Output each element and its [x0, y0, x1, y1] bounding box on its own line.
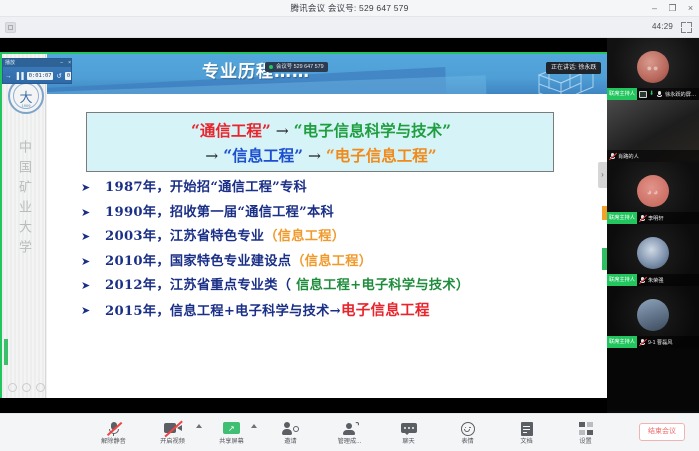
toolbar-document-button[interactable]: 文档 — [506, 416, 548, 450]
avatar — [637, 237, 669, 269]
toolbar-button-label: 聊天 — [402, 438, 414, 446]
participant-name: 朱荣强 — [648, 277, 699, 284]
text-run: 电子信息工程 — [341, 302, 430, 319]
minimize-button[interactable]: – — [650, 0, 659, 16]
participant-role-badge: 联席主持人 — [607, 88, 637, 100]
participant-status-icons — [637, 338, 648, 346]
filmstrip-empty-area — [607, 348, 699, 411]
fullscreen-icon[interactable] — [681, 22, 692, 33]
share-border-left — [0, 52, 2, 398]
download-icon: ⬇ — [649, 90, 654, 98]
settings-icon — [579, 420, 593, 437]
participant-name: 9-1 曹磊风 — [648, 339, 699, 346]
slide-bullet: 2012年，江苏省重点专业类（ 信息工程+电子科学与技术） — [77, 278, 597, 294]
toolbar-button-label: 开启视频 — [160, 438, 185, 446]
meeting-stage: 中国矿业大学 专业历程…… — [0, 38, 699, 413]
slide-bullet: 2010年，国家特色专业建设点（信息工程） — [77, 254, 597, 270]
meeting-sub-bar: 44:29 — [0, 17, 699, 38]
slide-bullet-list: 1987年，开始招“通信工程”专科1990年，招收第一届“通信工程”本科2003… — [77, 180, 597, 328]
player-loop-icon[interactable]: ↺ — [56, 72, 61, 80]
mic-icon — [656, 90, 663, 98]
participant-tile[interactable]: ●●联席主持人⬇徐永跃的屏幕共享 — [607, 38, 699, 100]
player-next-icon[interactable]: → — [5, 73, 12, 80]
meeting-id-badge: 会议号 529 647 579 — [265, 62, 328, 72]
emoji-icon — [461, 420, 475, 437]
window-controls: – ❐ × — [650, 0, 695, 16]
toolbar-button-label: 邀请 — [284, 438, 296, 446]
presentation-slide: 专业历程…… — [47, 52, 607, 398]
participant-filmstrip[interactable]: ●●联席主持人⬇徐永跃的屏幕共享肖路的人◕◕联席主持人李明轩联席主持人朱荣强联席… — [607, 38, 699, 413]
participant-tile[interactable]: 肖路的人 — [607, 100, 699, 162]
manage-members-icon — [342, 420, 358, 437]
screen-share-icon — [639, 91, 647, 98]
player-title-bar: 播放 – × — [3, 59, 72, 67]
toolbar-button-label: 解除静音 — [101, 438, 126, 446]
avatar: ●● — [637, 51, 669, 83]
video-options-caret-icon[interactable] — [251, 424, 257, 428]
participant-status-icons — [637, 276, 648, 284]
slide-highlight-box: “通信工程” → “电子信息科学与技术” → “信息工程” → “电子信息工程” — [86, 112, 554, 172]
end-meeting-button[interactable]: 结束会议 — [639, 423, 685, 441]
text-run: “电子信息工程” — [326, 146, 437, 165]
active-speaker-badge: 正在讲话: 徐永跃 — [546, 62, 601, 74]
mic-muted-icon — [609, 152, 616, 160]
text-run: 2010年，国家特色专业建设点 — [105, 254, 291, 269]
toolbar-button-label: 管理成... — [338, 438, 362, 446]
window-title: 腾讯会议 会议号: 529 647 579 — [0, 0, 699, 16]
participant-name: 李明轩 — [648, 215, 699, 222]
participant-status-icons — [607, 152, 618, 160]
avatar-face: ●● — [647, 63, 660, 73]
toolbar-camera-muted-button[interactable]: 开启视频 — [152, 416, 194, 450]
crest-year: 1909 — [10, 103, 42, 108]
participant-tile[interactable]: ◕◕联席主持人李明轩 — [607, 162, 699, 224]
share-edge-green — [602, 248, 607, 270]
share-border-top — [0, 52, 607, 54]
mic-muted-icon — [639, 214, 646, 222]
toolbar-manage-members-button[interactable]: 管理成... — [329, 416, 371, 450]
slide-header: 专业历程…… — [47, 52, 607, 94]
share-edge-orange — [602, 206, 607, 220]
toolbar-mic-muted-button[interactable]: 解除静音 — [93, 416, 135, 450]
strip-dots — [8, 383, 45, 392]
participant-name-bar: 联席主持人9-1 曹磊风 — [607, 336, 699, 348]
text-run: 2012年，江苏省重点专业类（ — [105, 278, 296, 293]
avatar: ◕◕ — [637, 175, 669, 207]
toolbar-share-screen-button[interactable]: ↗共享屏幕 — [211, 416, 253, 450]
meeting-timer: 44:29 — [652, 17, 673, 37]
mic-muted-icon — [107, 420, 121, 437]
slide-bullet: 1990年，招收第一届“通信工程”本科 — [77, 205, 597, 221]
share-screen-icon: ↗ — [223, 420, 240, 437]
participant-role-badge: 联席主持人 — [607, 274, 637, 286]
text-run: “通信工程” — [191, 121, 271, 140]
shared-screen-region[interactable]: 中国矿业大学 专业历程…… — [0, 52, 607, 398]
toolbar-button-label: 文档 — [520, 438, 532, 446]
toolbar-button-label: 共享屏幕 — [219, 438, 244, 446]
text-run: “电子信息科学与技术” — [294, 121, 451, 140]
slide-body: “通信工程” → “电子信息科学与技术” → “信息工程” → “电子信息工程”… — [47, 94, 607, 398]
participant-status-icons: ⬇ — [637, 90, 665, 98]
text-run: → — [303, 147, 326, 165]
player-title: 播放 — [5, 59, 15, 67]
invite-icon — [283, 420, 299, 437]
maximize-button[interactable]: ❐ — [668, 0, 677, 16]
player-minimize[interactable]: – — [60, 59, 63, 67]
meeting-info-icon[interactable] — [5, 22, 16, 33]
participant-status-icons — [637, 214, 648, 222]
avatar — [637, 299, 669, 331]
text-run: （信息工程） — [291, 254, 372, 269]
text-run: 1987年，开始招“通信工程”专科 — [105, 180, 307, 195]
slide-bullet: 2003年，江苏省特色专业（信息工程） — [77, 229, 597, 245]
player-close[interactable]: × — [68, 59, 71, 67]
toolbar-button-label: 设置 — [579, 438, 591, 446]
university-name: 中国矿业大学 — [14, 140, 33, 260]
highlight-line-1: “通信工程” → “电子信息科学与技术” — [87, 119, 555, 141]
close-button[interactable]: × — [686, 0, 695, 16]
participant-name-bar: 联席主持人朱荣强 — [607, 274, 699, 286]
participant-name: 徐永跃的屏幕共享 — [665, 91, 699, 98]
active-speaker-text: 正在讲话: 徐永跃 — [551, 62, 596, 74]
participant-role-badge: 联席主持人 — [607, 336, 637, 348]
toolbar-button-label: 表情 — [461, 438, 473, 446]
player-controls: → ▐▐ 0:01:07 ↺ 0:12:41 — [3, 68, 72, 84]
text-run: → — [271, 122, 294, 140]
text-run: 1990年，招收第一届“通信工程”本科 — [105, 205, 334, 220]
player-pause-icon[interactable]: ▐▐ — [15, 73, 24, 80]
toolbar-invite-button[interactable]: 邀请 — [270, 416, 312, 450]
text-run: 2003年，江苏省特色专业 — [105, 229, 264, 244]
meeting-id-text: 会议号 529 647 579 — [276, 62, 324, 72]
toolbar-chat-button[interactable]: 聊天 — [388, 416, 430, 450]
strip-accent — [4, 339, 8, 365]
text-run: 信息工程+电子科学与技术） — [296, 278, 469, 293]
document-icon — [521, 420, 533, 437]
camera-muted-icon — [164, 420, 182, 437]
avatar-face: ◕◕ — [647, 187, 660, 197]
text-run: “信息工程” — [223, 146, 303, 165]
chat-icon — [401, 420, 417, 437]
player-total: 0:12:41 — [65, 72, 72, 80]
meeting-toolbar: 解除静音开启视频↗共享屏幕邀请管理成...聊天表情文档设置 结束会议 — [0, 413, 699, 451]
mic-muted-icon — [639, 276, 646, 284]
recording-dot-icon — [269, 65, 273, 69]
participant-name: 肖路的人 — [618, 153, 699, 160]
share-scroll-hint[interactable]: › — [598, 162, 607, 188]
participant-tile[interactable]: 联席主持人朱荣强 — [607, 224, 699, 286]
audio-options-caret-icon[interactable] — [196, 424, 202, 428]
window-title-bar: 腾讯会议 会议号: 529 647 579 – ❐ × — [0, 0, 699, 17]
text-run: 2015年，信息工程+电子科学与技术→ — [105, 304, 341, 319]
text-run: （信息工程） — [264, 229, 345, 244]
toolbar-buttons: 解除静音开启视频↗共享屏幕邀请管理成...聊天表情文档设置 — [0, 414, 699, 451]
toolbar-emoji-button[interactable]: 表情 — [447, 416, 489, 450]
highlight-line-2: → “信息工程” → “电子信息工程” — [87, 144, 555, 166]
media-player-widget[interactable]: 播放 – × → ▐▐ 0:01:07 ↺ 0:12:41 — [2, 58, 72, 84]
slide-bullet: 2015年，信息工程+电子科学与技术→电子信息工程 — [77, 303, 597, 320]
text-run: → — [205, 147, 223, 165]
player-elapsed: 0:01:07 — [27, 72, 54, 80]
slide-bullet: 1987年，开始招“通信工程”专科 — [77, 180, 597, 196]
participant-name-bar: 联席主持人李明轩 — [607, 212, 699, 224]
participant-name-bar: 联席主持人⬇徐永跃的屏幕共享 — [607, 88, 699, 100]
participant-name-bar: 肖路的人 — [607, 150, 699, 162]
toolbar-settings-button[interactable]: 设置 — [565, 416, 607, 450]
participant-role-badge: 联席主持人 — [607, 212, 637, 224]
participant-tile[interactable]: 联席主持人9-1 曹磊风 — [607, 286, 699, 348]
mic-muted-icon — [639, 338, 646, 346]
tencent-meeting-window: 腾讯会议 会议号: 529 647 579 – ❐ × 44:29 中国矿业大学… — [0, 0, 699, 451]
